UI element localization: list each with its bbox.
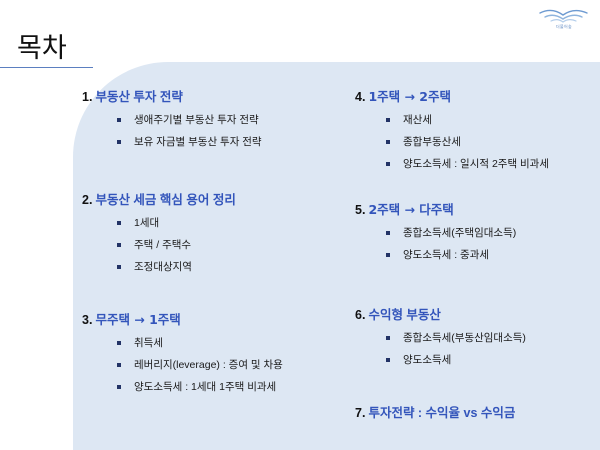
toc-group-4-number: 4. xyxy=(355,90,365,104)
list-item[interactable]: 재산세 xyxy=(355,113,600,127)
square-bullet-icon xyxy=(117,363,121,367)
list-item-label: 종합부동산세 xyxy=(403,136,461,148)
list-item[interactable]: 보유 자금별 부동산 투자 전략 xyxy=(82,135,340,149)
toc-group-5-title: 2주택 → 다주택 xyxy=(368,202,453,217)
list-item-label: 양도소득세 : 중과세 xyxy=(403,249,489,261)
list-item[interactable]: 종합부동산세 xyxy=(355,135,600,149)
square-bullet-icon xyxy=(386,358,390,362)
toc-group-2-number: 2. xyxy=(82,193,92,207)
page-title: 목차 xyxy=(17,32,67,64)
toc-group-7-title: 투자전략 : 수익율 vs 수익금 xyxy=(368,406,515,420)
toc-group-5-items: 종합소득세(주택임대소득) 양도소득세 : 중과세 xyxy=(355,226,600,262)
square-bullet-icon xyxy=(386,336,390,340)
list-item-label: 종합소득세(부동산임대소득) xyxy=(403,332,526,344)
toc-group-1-items: 생애주기별 부동산 투자 전략 보유 자금별 부동산 투자 전략 xyxy=(82,113,340,149)
list-item[interactable]: 양도소득세 : 중과세 xyxy=(355,248,600,262)
list-item-label: 보유 자금별 부동산 투자 전략 xyxy=(134,136,262,148)
square-bullet-icon xyxy=(386,118,390,122)
list-item[interactable]: 주택 / 주택수 xyxy=(82,238,340,252)
toc-group-5[interactable]: 5.2주택 → 다주택 종합소득세(주택임대소득) 양도소득세 : 중과세 xyxy=(355,202,600,262)
toc-group-3-number: 3. xyxy=(82,313,92,327)
square-bullet-icon xyxy=(117,140,121,144)
list-item[interactable]: 종합소득세(부동산임대소득) xyxy=(355,331,600,345)
square-bullet-icon xyxy=(386,140,390,144)
toc-group-7-heading: 7.투자전략 : 수익율 vs 수익금 xyxy=(355,405,600,421)
list-item[interactable]: 취득세 xyxy=(82,336,340,350)
toc-group-2-heading: 2.부동산 세금 핵심 용어 정리 xyxy=(82,192,340,208)
list-item-label: 취득세 xyxy=(134,337,163,349)
toc-group-7-number: 7. xyxy=(355,406,365,420)
square-bullet-icon xyxy=(386,231,390,235)
toc-group-3-items: 취득세 레버리지(leverage) : 증여 및 차용 양도소득세 : 1세대… xyxy=(82,336,340,394)
square-bullet-icon xyxy=(386,162,390,166)
toc-group-2-items: 1세대 주택 / 주택수 조정대상지역 xyxy=(82,216,340,274)
toc-group-5-number: 5. xyxy=(355,203,365,217)
toc-group-6-number: 6. xyxy=(355,308,365,322)
square-bullet-icon xyxy=(117,341,121,345)
list-item-label: 양도소득세 : 일시적 2주택 비과세 xyxy=(403,158,549,170)
toc-group-7[interactable]: 7.투자전략 : 수익율 vs 수익금 xyxy=(355,405,600,421)
list-item[interactable]: 종합소득세(주택임대소득) xyxy=(355,226,600,240)
toc-group-6-heading: 6.수익형 부동산 xyxy=(355,307,600,323)
toc-group-1-title: 부동산 투자 전략 xyxy=(95,90,182,104)
toc-group-4-items: 재산세 종합부동산세 양도소득세 : 일시적 2주택 비과세 xyxy=(355,113,600,171)
list-item-label: 레버리지(leverage) : 증여 및 차용 xyxy=(134,359,283,371)
toc-group-1-number: 1. xyxy=(82,90,92,104)
square-bullet-icon xyxy=(117,118,121,122)
toc-panel: 1.부동산 투자 전략 생애주기별 부동산 투자 전략 보유 자금별 부동산 투… xyxy=(73,62,600,450)
toc-group-3-title: 무주택 → 1주택 xyxy=(95,312,180,327)
list-item[interactable]: 1세대 xyxy=(82,216,340,230)
list-item[interactable]: 생애주기별 부동산 투자 전략 xyxy=(82,113,340,127)
list-item-label: 1세대 xyxy=(134,217,159,229)
toc-group-2[interactable]: 2.부동산 세금 핵심 용어 정리 1세대 주택 / 주택수 조정대상지역 xyxy=(82,192,340,274)
toc-group-2-title: 부동산 세금 핵심 용어 정리 xyxy=(95,193,235,207)
list-item[interactable]: 양도소득세 : 일시적 2주택 비과세 xyxy=(355,157,600,171)
toc-group-3[interactable]: 3.무주택 → 1주택 취득세 레버리지(leverage) : 증여 및 차용… xyxy=(82,312,340,394)
square-bullet-icon xyxy=(117,221,121,225)
slide-canvas: 더불어숲 목차 1.부동산 투자 전략 생애주기별 부동산 투자 전략 보유 자… xyxy=(0,0,600,450)
list-item-label: 생애주기별 부동산 투자 전략 xyxy=(134,114,259,126)
square-bullet-icon xyxy=(386,253,390,257)
toc-group-1-heading: 1.부동산 투자 전략 xyxy=(82,89,340,105)
toc-group-4-title: 1주택 → 2주택 xyxy=(368,89,451,104)
toc-group-4[interactable]: 4.1주택 → 2주택 재산세 종합부동산세 양도소득세 : 일시적 2주택 비… xyxy=(355,89,600,171)
list-item-label: 주택 / 주택수 xyxy=(134,239,191,251)
title-underline xyxy=(0,67,93,68)
list-item[interactable]: 조정대상지역 xyxy=(82,260,340,274)
list-item[interactable]: 양도소득세 : 1세대 1주택 비과세 xyxy=(82,380,340,394)
toc-group-6[interactable]: 6.수익형 부동산 종합소득세(부동산임대소득) 양도소득세 xyxy=(355,307,600,367)
list-item-label: 양도소득세 xyxy=(403,354,451,366)
toc-group-1[interactable]: 1.부동산 투자 전략 생애주기별 부동산 투자 전략 보유 자금별 부동산 투… xyxy=(82,89,340,149)
list-item-label: 재산세 xyxy=(403,114,432,126)
list-item[interactable]: 레버리지(leverage) : 증여 및 차용 xyxy=(82,358,340,372)
list-item-label: 조정대상지역 xyxy=(134,261,192,273)
toc-group-5-heading: 5.2주택 → 다주택 xyxy=(355,202,600,218)
square-bullet-icon xyxy=(117,265,121,269)
toc-group-4-heading: 4.1주택 → 2주택 xyxy=(355,89,600,105)
toc-group-6-title: 수익형 부동산 xyxy=(368,308,440,322)
toc-group-3-heading: 3.무주택 → 1주택 xyxy=(82,312,340,328)
square-bullet-icon xyxy=(117,243,121,247)
list-item-label: 종합소득세(주택임대소득) xyxy=(403,227,516,239)
bird-wing-logo: 더불어숲 xyxy=(536,4,592,34)
logo-caption: 더불어숲 xyxy=(536,24,592,29)
list-item[interactable]: 양도소득세 xyxy=(355,353,600,367)
list-item-label: 양도소득세 : 1세대 1주택 비과세 xyxy=(134,381,276,393)
toc-group-6-items: 종합소득세(부동산임대소득) 양도소득세 xyxy=(355,331,600,367)
square-bullet-icon xyxy=(117,385,121,389)
